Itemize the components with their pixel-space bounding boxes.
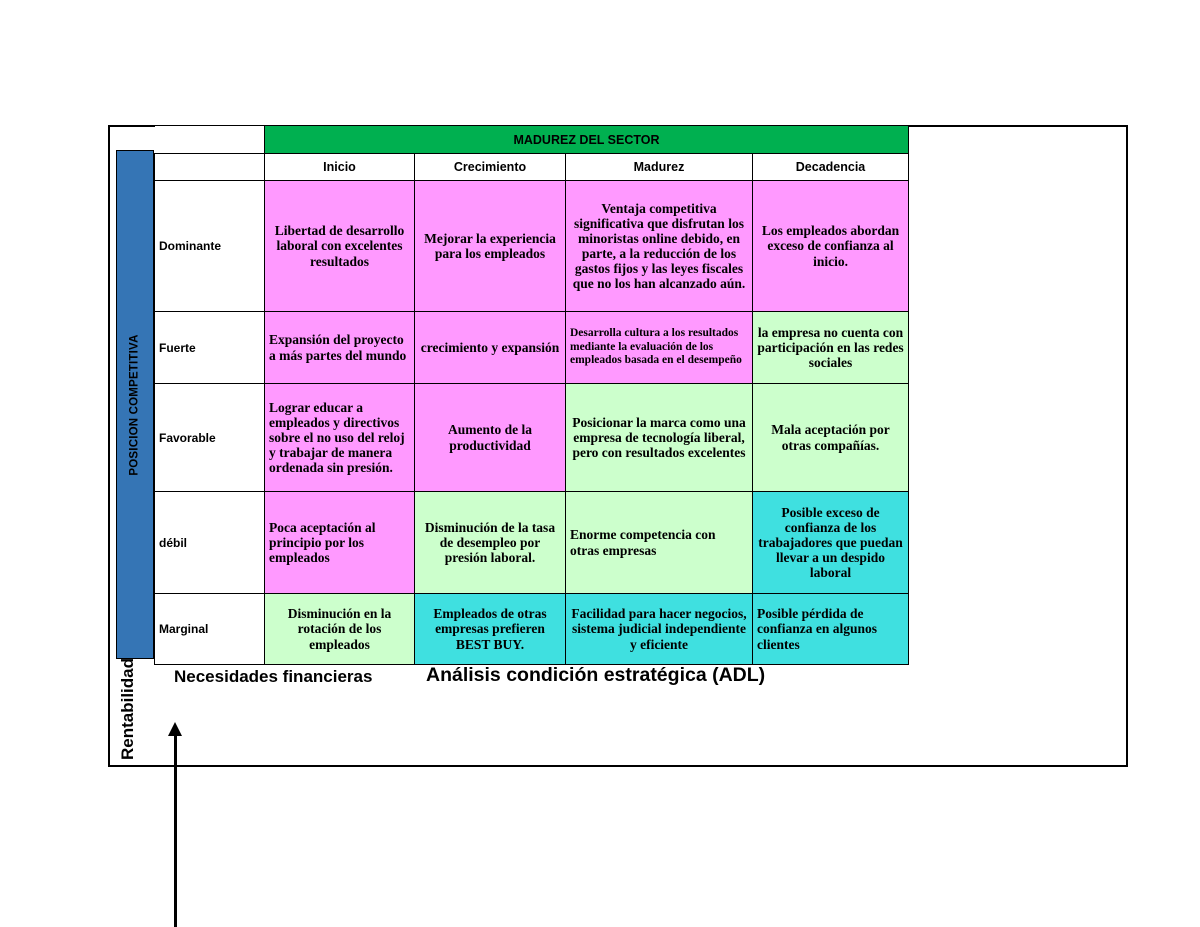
cell-dominante-crecimiento: Mejorar la experiencia para los empleado… — [415, 181, 566, 312]
table-row-fuerte: Fuerte Expansión del proyecto a más part… — [155, 312, 909, 384]
row-label-debil: débil — [155, 492, 265, 594]
adl-matrix-table: MADUREZ DEL SECTOR Inicio Crecimiento Ma… — [154, 125, 909, 665]
stage-header-inicio: Inicio — [265, 154, 415, 181]
cell-debil-madurez: Enorme competencia con otras empresas — [566, 492, 753, 594]
corner-blank-cell — [155, 126, 265, 154]
cell-fuerte-inicio: Expansión del proyecto a más partes del … — [265, 312, 415, 384]
row-label-favorable: Favorable — [155, 384, 265, 492]
cell-marginal-crecimiento: Empleados de otras empresas prefieren BE… — [415, 594, 566, 665]
caption-row: Necesidades financieras Análisis condici… — [108, 664, 1128, 698]
cell-marginal-madurez: Facilidad para hacer negocios, sistema j… — [566, 594, 753, 665]
cell-marginal-inicio: Disminución en la rotación de los emplea… — [265, 594, 415, 665]
cell-fuerte-decadencia: la empresa no cuenta con participación e… — [753, 312, 909, 384]
row-label-dominante: Dominante — [155, 181, 265, 312]
cell-dominante-inicio: Libertad de desarrollo laboral con excel… — [265, 181, 415, 312]
table-row-favorable: Favorable Lograr educar a empleados y di… — [155, 384, 909, 492]
table-header-row-stages: Inicio Crecimiento Madurez Decadencia — [155, 154, 909, 181]
stage-header-decadencia: Decadencia — [753, 154, 909, 181]
cell-favorable-madurez: Posicionar la marca como una empresa de … — [566, 384, 753, 492]
cell-debil-inicio: Poca aceptación al principio por los emp… — [265, 492, 415, 594]
row-label-fuerte: Fuerte — [155, 312, 265, 384]
cell-debil-decadencia: Posible exceso de confianza de los traba… — [753, 492, 909, 594]
cell-dominante-decadencia: Los empleados abordan exceso de confianz… — [753, 181, 909, 312]
cell-fuerte-madurez: Desarrolla cultura a los resultados medi… — [566, 312, 753, 384]
row-label-marginal: Marginal — [155, 594, 265, 665]
madurez-del-sector-header: MADUREZ DEL SECTOR — [265, 126, 909, 154]
cell-marginal-decadencia: Posible pérdida de confianza en algunos … — [753, 594, 909, 665]
adl-matrix: POSICION COMPETITIVA MADUREZ DEL SECTOR … — [108, 125, 908, 659]
rentabilidad-label: Rentabilidad — [118, 620, 138, 760]
cell-favorable-inicio: Lograr educar a empleados y directivos s… — [265, 384, 415, 492]
table-header-row-sector: MADUREZ DEL SECTOR — [155, 126, 909, 154]
stage-header-crecimiento: Crecimiento — [415, 154, 566, 181]
diagram-title: Análisis condición estratégica (ADL) — [426, 664, 765, 687]
table-row-dominante: Dominante Libertad de desarrollo laboral… — [155, 181, 909, 312]
posicion-competitiva-label: POSICION COMPETITIVA — [129, 334, 141, 475]
cell-fuerte-crecimiento: crecimiento y expansión — [415, 312, 566, 384]
cell-favorable-decadencia: Mala aceptación por otras compañías. — [753, 384, 909, 492]
table-row-debil: débil Poca aceptación al principio por l… — [155, 492, 909, 594]
stage-header-blank — [155, 154, 265, 181]
table-row-marginal: Marginal Disminución en la rotación de l… — [155, 594, 909, 665]
cell-favorable-crecimiento: Aumento de la productividad — [415, 384, 566, 492]
posicion-competitiva-axis-band: POSICION COMPETITIVA — [116, 150, 154, 659]
rentabilidad-axis-line — [174, 730, 177, 927]
necesidades-financieras-label: Necesidades financieras — [174, 667, 372, 687]
stage-header-madurez: Madurez — [566, 154, 753, 181]
cell-dominante-madurez: Ventaja competitiva significativa que di… — [566, 181, 753, 312]
cell-debil-crecimiento: Disminución de la tasa de desempleo por … — [415, 492, 566, 594]
